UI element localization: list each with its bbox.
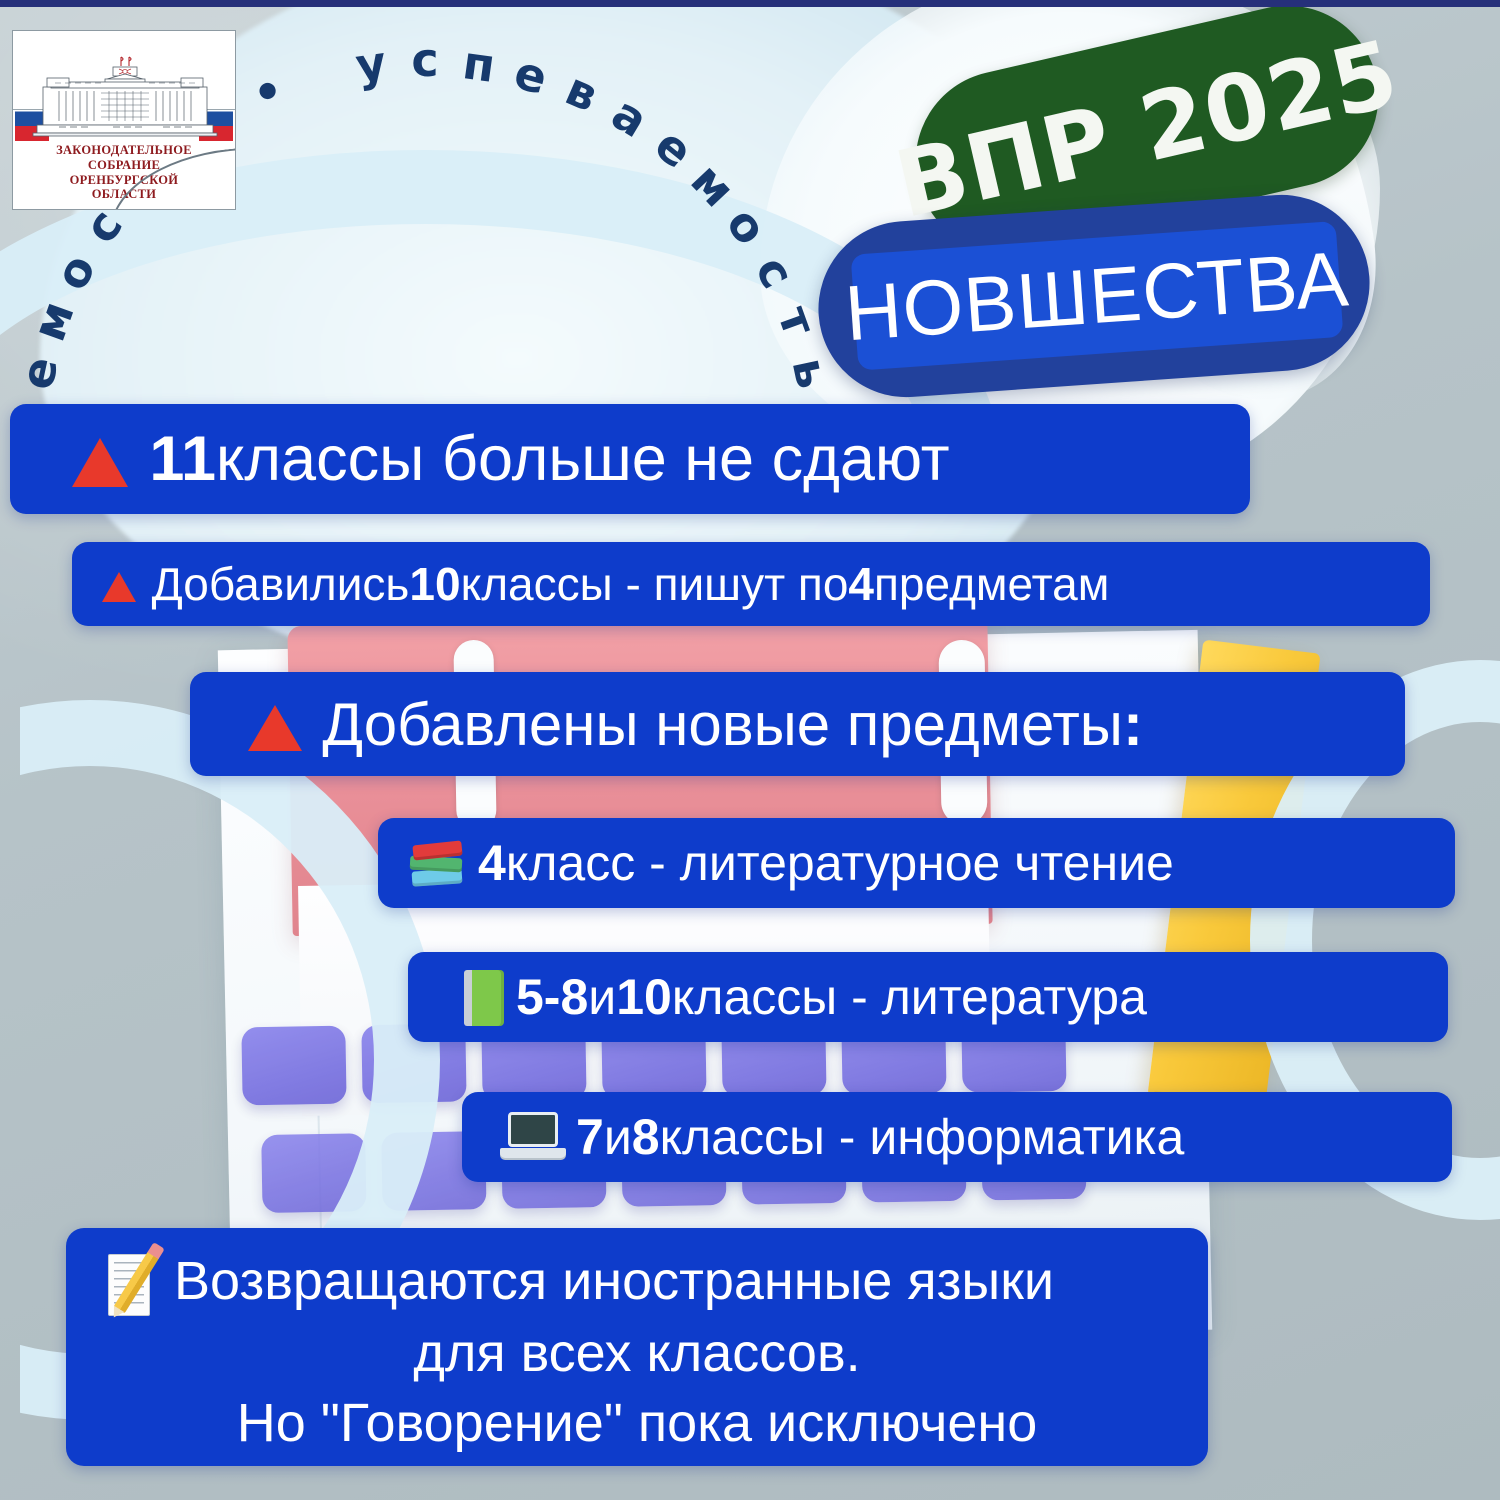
- banner-grade-10-middle: классы - пишут по: [461, 557, 849, 611]
- subject-row-informatics: 7 и 8 классы - информатика: [462, 1092, 1452, 1182]
- banner-new-subjects-colon: :: [1123, 690, 1143, 759]
- logo-legislative-assembly: ЗАКОНОДАТЕЛЬНОЕ СОБРАНИЕ ОРЕНБУРГСКОЙ ОБ…: [12, 30, 236, 210]
- banner-grade-10-suffix: предметам: [874, 557, 1109, 611]
- banner-foreign-languages-text-1: Возвращаются иностранные языки: [174, 1251, 1054, 1311]
- memo-pencil-icon: [108, 1252, 164, 1318]
- banner-foreign-languages-line-2: для всех классов.: [94, 1318, 1180, 1388]
- triangle-marker-icon: [72, 438, 128, 487]
- subject-row-1-grade: 4: [478, 834, 506, 892]
- banner-grade-11-text: классы больше не сдают: [216, 423, 950, 495]
- green-book-icon: [462, 966, 506, 1028]
- subject-row-2-grade-extra: 10: [616, 968, 672, 1026]
- background-arc-letter: с: [411, 33, 438, 87]
- banner-new-subjects-heading: Добавлены новые предметы :: [190, 672, 1405, 776]
- parliament-building-icon: [29, 53, 221, 139]
- banner-new-subjects-text: Добавлены новые предметы: [322, 690, 1123, 759]
- subject-row-3-grade-extra: 8: [632, 1108, 660, 1166]
- subject-row-3-middle: и: [604, 1108, 632, 1166]
- subject-row-3-suffix: классы - информатика: [660, 1108, 1185, 1166]
- banner-foreign-languages: Возвращаются иностранные языки для всех …: [66, 1228, 1208, 1466]
- subject-row-2-grades: 5-8: [516, 968, 588, 1026]
- top-accent-strip: [0, 0, 1500, 7]
- badge-novshestva-label: НОВШЕСТВА: [842, 233, 1352, 359]
- triangle-marker-icon: [102, 572, 136, 602]
- subject-row-2-suffix: классы - литература: [672, 968, 1147, 1026]
- banner-grade-10-number: 10: [409, 557, 460, 611]
- laptop-icon: [500, 1110, 566, 1164]
- poster-root: емость • успеваемость: [0, 0, 1500, 1500]
- banner-grade-11: 11 классы больше не сдают: [10, 404, 1250, 514]
- books-icon: [406, 832, 468, 894]
- subject-row-literature: 5-8 и 10 классы - литература: [408, 952, 1448, 1042]
- banner-foreign-languages-line-3: Но "Говорение" пока исключено: [94, 1388, 1180, 1458]
- banner-foreign-languages-line-1: Возвращаются иностранные языки: [94, 1246, 1180, 1318]
- banner-grade-10-prefix: Добавились: [152, 557, 410, 611]
- subject-row-2-middle: и: [588, 968, 616, 1026]
- badge-novshestva-inner: НОВШЕСТВА: [851, 221, 1344, 371]
- background-arc-letter: п: [459, 35, 498, 93]
- banner-grade-10-subject-count: 4: [848, 557, 874, 611]
- subject-row-1-text: класс - литературное чтение: [506, 834, 1174, 892]
- banner-grade-10-added: Добавились 10 классы - пишут по 4 предме…: [72, 542, 1430, 626]
- triangle-marker-icon: [248, 705, 302, 751]
- subject-row-literary-reading: 4 класс - литературное чтение: [378, 818, 1455, 908]
- banner-grade-11-number: 11: [149, 423, 216, 495]
- subject-row-3-grade: 7: [576, 1108, 604, 1166]
